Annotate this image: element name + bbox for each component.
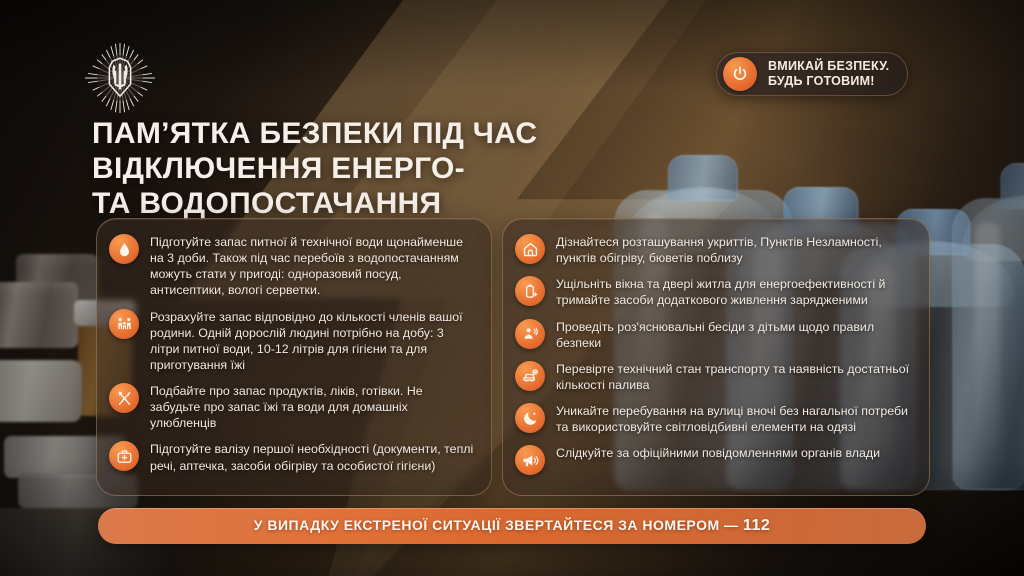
list-item: Проведіть роз'яснювальні бесіди з дітьми… xyxy=(515,318,913,351)
list-item-text: Ущільніть вікна та двері житла для енерг… xyxy=(556,275,913,308)
right-tips-panel: Дізнайтеся розташування укриттів, Пункті… xyxy=(502,218,930,496)
list-item-text: Подбайте про запас продуктів, ліків, гот… xyxy=(150,382,475,431)
list-item-text: Перевірте технічний стан транспорту та н… xyxy=(556,360,913,393)
night-moon-icon xyxy=(515,403,545,433)
list-item: Уникайте перебування на вулиці вночі без… xyxy=(515,402,913,435)
list-item: Дізнайтеся розташування укриттів, Пункті… xyxy=(515,233,913,266)
list-item: Ущільніть вікна та двері житла для енерг… xyxy=(515,275,913,308)
shelter-home-icon xyxy=(515,234,545,264)
first-aid-kit-icon xyxy=(109,441,139,471)
car-check-icon xyxy=(515,361,545,391)
water-drop-icon xyxy=(109,234,139,264)
emergency-number: 112 xyxy=(743,517,770,534)
list-item-text: Проведіть роз'яснювальні бесіди з дітьми… xyxy=(556,318,913,351)
list-item-text: Підготуйте запас питної й технічної води… xyxy=(150,233,475,299)
emergency-banner: У ВИПАДКУ ЕКСТРЕНОЇ СИТУАЦІЇ ЗВЕРТАЙТЕСЯ… xyxy=(98,508,926,544)
title-line-1: ПАМ’ЯТКА БЕЗПЕКИ ПІД ЧАС xyxy=(92,116,652,151)
list-item-text: Уникайте перебування на вулиці вночі без… xyxy=(556,402,913,435)
slogan-text: ВМИКАЙ БЕЗПЕКУ. БУДЬ ГОТОВИМ! xyxy=(768,59,889,90)
list-item: Підготуйте запас питної й технічної води… xyxy=(109,233,475,299)
left-tips-panel: Підготуйте запас питної й технічної води… xyxy=(96,218,492,496)
list-item: Подбайте про запас продуктів, ліків, гот… xyxy=(109,382,475,431)
safety-infographic-poster: ВМИКАЙ БЕЗПЕКУ. БУДЬ ГОТОВИМ! ПАМ’ЯТКА Б… xyxy=(0,0,1024,576)
list-item: Перевірте технічний стан транспорту та н… xyxy=(515,360,913,393)
national-police-of-ukraine-emblem xyxy=(82,40,158,116)
page-title: ПАМ’ЯТКА БЕЗПЕКИ ПІД ЧАС ВІДКЛЮЧЕННЯ ЕНЕ… xyxy=(92,116,652,221)
list-item: Слідкуйте за офіційними повідомленнями о… xyxy=(515,444,913,475)
list-item-text: Слідкуйте за офіційними повідомленнями о… xyxy=(556,444,880,461)
battery-charge-icon xyxy=(515,276,545,306)
family-icon xyxy=(109,309,139,339)
power-icon xyxy=(723,57,757,91)
person-speaking-icon xyxy=(515,319,545,349)
emergency-text: У ВИПАДКУ ЕКСТРЕНОЇ СИТУАЦІЇ ЗВЕРТАЙТЕСЯ… xyxy=(254,517,770,535)
list-item: Підготуйте валізу першої необхідності (д… xyxy=(109,440,475,473)
list-item: Розрахуйте запас відповідно до кількості… xyxy=(109,308,475,374)
emergency-label: У ВИПАДКУ ЕКСТРЕНОЇ СИТУАЦІЇ ЗВЕРТАЙТЕСЯ… xyxy=(254,517,743,533)
list-item-text: Дізнайтеся розташування укриттів, Пункті… xyxy=(556,233,913,266)
title-line-3: ТА ВОДОПОСТАЧАННЯ xyxy=(92,186,652,221)
title-line-2: ВІДКЛЮЧЕННЯ ЕНЕРГО- xyxy=(92,151,652,186)
list-item-text: Підготуйте валізу першої необхідності (д… xyxy=(150,440,475,473)
megaphone-icon xyxy=(515,445,545,475)
slogan-badge: ВМИКАЙ БЕЗПЕКУ. БУДЬ ГОТОВИМ! xyxy=(716,52,908,96)
slogan-line-2: БУДЬ ГОТОВИМ! xyxy=(768,74,889,89)
cutlery-icon xyxy=(109,383,139,413)
list-item-text: Розрахуйте запас відповідно до кількості… xyxy=(150,308,475,374)
slogan-line-1: ВМИКАЙ БЕЗПЕКУ. xyxy=(768,59,889,74)
